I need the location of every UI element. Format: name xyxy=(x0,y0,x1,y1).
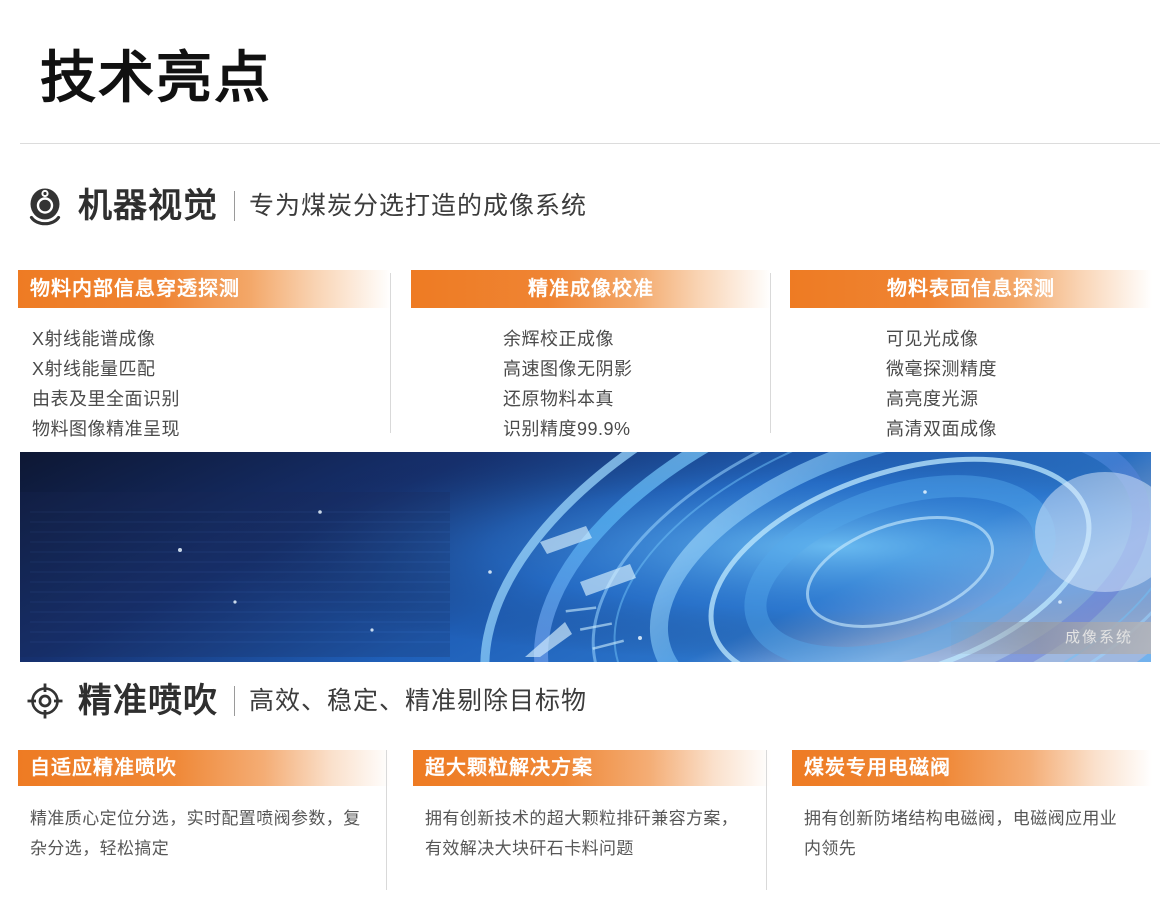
card-body: 精准质心定位分选，实时配置喷阀参数，复杂分选，轻松搞定 xyxy=(18,786,391,864)
card-body: 拥有创新技术的超大颗粒排矸兼容方案，有效解决大块矸石卡料问题 xyxy=(413,786,771,864)
card-header: 自适应精准喷吹 xyxy=(18,750,391,786)
section-title: 精准喷吹 xyxy=(78,684,218,718)
section-separator xyxy=(234,686,235,716)
banner-caption: 成像系统 xyxy=(951,622,1151,654)
page-title: 技术亮点 xyxy=(40,50,272,106)
card-divider xyxy=(386,750,387,890)
feature-column-header: 物料内部信息穿透探测 xyxy=(18,270,391,308)
list-item: 余辉校正成像 xyxy=(503,324,771,354)
feature-list: X射线能谱成像 X射线能量匹配 由表及里全面识别 物料图像精准呈现 xyxy=(18,308,391,444)
section-subtitle: 专为煤炭分选打造的成像系统 xyxy=(249,194,587,219)
list-item: 物料图像精准呈现 xyxy=(32,414,391,444)
list-item: 微毫探测精度 xyxy=(886,354,1152,384)
list-item: 可见光成像 xyxy=(886,324,1152,354)
feature-column-1: 物料内部信息穿透探测 X射线能谱成像 X射线能量匹配 由表及里全面识别 物料图像… xyxy=(18,270,391,440)
card-header: 煤炭专用电磁阀 xyxy=(792,750,1152,786)
title-divider xyxy=(20,143,1160,144)
camera-icon xyxy=(24,185,66,227)
feature-list: 可见光成像 微毫探测精度 高亮度光源 高清双面成像 xyxy=(790,308,1152,444)
feature-card-1: 自适应精准喷吹 精准质心定位分选，实时配置喷阀参数，复杂分选，轻松搞定 xyxy=(18,750,391,890)
imaging-system-banner: 成像系统 xyxy=(20,452,1151,662)
card-body: 拥有创新防堵结构电磁阀，电磁阀应用业内领先 xyxy=(792,786,1152,864)
feature-column-header: 精准成像校准 xyxy=(411,270,771,308)
list-item: 高亮度光源 xyxy=(886,384,1152,414)
list-item: 识别精度99.9% xyxy=(503,414,771,444)
section-heading-precision-blowing: 精准喷吹 高效、稳定、精准剔除目标物 xyxy=(24,678,587,724)
card-header: 超大颗粒解决方案 xyxy=(413,750,771,786)
section-heading-machine-vision: 机器视觉 专为煤炭分选打造的成像系统 xyxy=(24,183,587,229)
list-item: X射线能谱成像 xyxy=(32,324,391,354)
list-item: 高清双面成像 xyxy=(886,414,1152,444)
card-divider xyxy=(766,750,767,890)
feature-columns: 物料内部信息穿透探测 X射线能谱成像 X射线能量匹配 由表及里全面识别 物料图像… xyxy=(18,270,1152,440)
feature-column-3: 物料表面信息探测 可见光成像 微毫探测精度 高亮度光源 高清双面成像 xyxy=(771,270,1152,440)
feature-column-header: 物料表面信息探测 xyxy=(790,270,1152,308)
list-item: X射线能量匹配 xyxy=(32,354,391,384)
section-subtitle: 高效、稳定、精准剔除目标物 xyxy=(249,689,587,714)
section-title: 机器视觉 xyxy=(78,189,218,223)
feature-card-2: 超大颗粒解决方案 拥有创新技术的超大颗粒排矸兼容方案，有效解决大块矸石卡料问题 xyxy=(391,750,771,890)
list-item: 还原物料本真 xyxy=(503,384,771,414)
feature-cards: 自适应精准喷吹 精准质心定位分选，实时配置喷阀参数，复杂分选，轻松搞定 超大颗粒… xyxy=(18,750,1152,890)
feature-card-3: 煤炭专用电磁阀 拥有创新防堵结构电磁阀，电磁阀应用业内领先 xyxy=(771,750,1152,890)
section-separator xyxy=(234,191,235,221)
crosshair-icon xyxy=(24,680,66,722)
list-item: 高速图像无阴影 xyxy=(503,354,771,384)
list-item: 由表及里全面识别 xyxy=(32,384,391,414)
feature-list: 余辉校正成像 高速图像无阴影 还原物料本真 识别精度99.9% xyxy=(411,308,771,444)
feature-column-2: 精准成像校准 余辉校正成像 高速图像无阴影 还原物料本真 识别精度99.9% xyxy=(391,270,771,440)
